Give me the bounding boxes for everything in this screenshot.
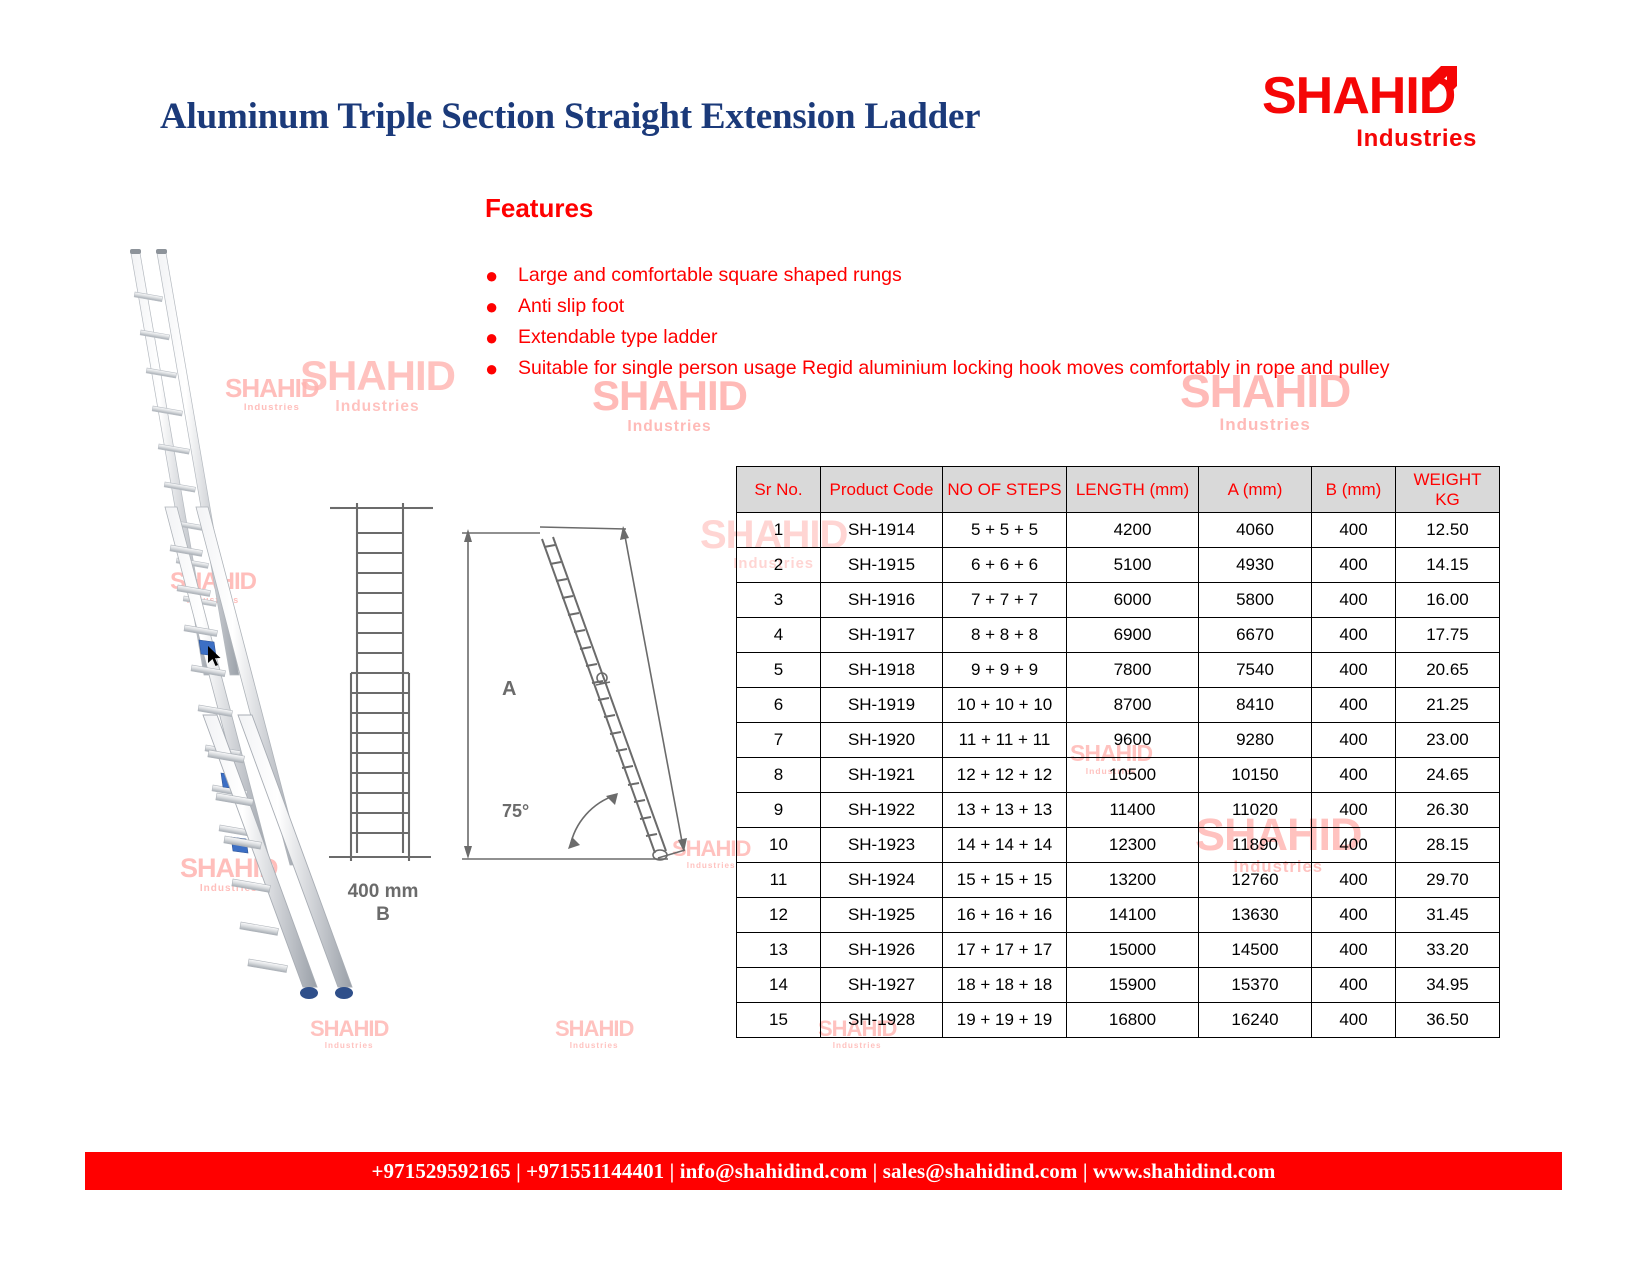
ladder-side-view-drawing: A 75° xyxy=(440,495,700,885)
column-header-sr-no: Sr No. xyxy=(737,467,821,513)
table-row: 4SH-19178 + 8 + 86900667040017.75 xyxy=(737,618,1500,653)
table-row: 9SH-192213 + 13 + 13114001102040026.30 xyxy=(737,793,1500,828)
column-header-b: B (mm) xyxy=(1312,467,1396,513)
dimension-a-label: A xyxy=(502,678,516,700)
feature-item: ● Extendable type ladder xyxy=(485,324,1485,351)
table-row: 8SH-192112 + 12 + 12105001015040024.65 xyxy=(737,758,1500,793)
table-row: 6SH-191910 + 10 + 108700841040021.25 xyxy=(737,688,1500,723)
bullet-icon: ● xyxy=(485,293,518,320)
table-row: 15SH-192819 + 19 + 19168001624040036.50 xyxy=(737,1003,1500,1038)
table-header-row: Sr No. Product Code NO OF STEPS LENGTH (… xyxy=(737,467,1500,513)
specification-table: Sr No. Product Code NO OF STEPS LENGTH (… xyxy=(736,466,1500,1038)
bullet-icon: ● xyxy=(485,355,518,382)
table-row: 12SH-192516 + 16 + 16141001363040031.45 xyxy=(737,898,1500,933)
table-row: 7SH-192011 + 11 + 119600928040023.00 xyxy=(737,723,1500,758)
table-row: 1SH-19145 + 5 + 54200406040012.50 xyxy=(737,513,1500,548)
column-header-length: LENGTH (mm) xyxy=(1067,467,1199,513)
table-row: 14SH-192718 + 18 + 18159001537040034.95 xyxy=(737,968,1500,1003)
table-row: 13SH-192617 + 17 + 17150001450040033.20 xyxy=(737,933,1500,968)
product-spec-sheet: Aluminum Triple Section Straight Extensi… xyxy=(0,0,1650,1275)
watermark: SHAHIDIndustries xyxy=(555,1018,633,1050)
ladder-front-view-drawing xyxy=(315,495,445,875)
watermark: SHAHIDIndustries xyxy=(310,1018,388,1050)
feature-item: ● Anti slip foot xyxy=(485,293,1485,320)
contact-footer-bar: +971529592165 | +971551144401 | info@sha… xyxy=(85,1152,1562,1190)
column-header-no-of-steps: NO OF STEPS xyxy=(943,467,1067,513)
bullet-icon: ● xyxy=(485,262,518,289)
feature-item: ● Large and comfortable square shaped ru… xyxy=(485,262,1485,289)
table-row: 3SH-19167 + 7 + 76000580040016.00 xyxy=(737,583,1500,618)
column-header-product-code: Product Code xyxy=(821,467,943,513)
contact-info: +971529592165 | +971551144401 | info@sha… xyxy=(371,1159,1275,1184)
bullet-icon: ● xyxy=(485,324,518,351)
table-row: 2SH-19156 + 6 + 65100493040014.15 xyxy=(737,548,1500,583)
table-row: 11SH-192415 + 15 + 15132001276040029.70 xyxy=(737,863,1500,898)
feature-item: ● Suitable for single person usage Regid… xyxy=(485,355,1485,382)
brand-logo: SHAHID Industries xyxy=(1262,70,1477,165)
dimension-b-label: 400 mm B xyxy=(318,880,448,926)
angle-label: 75° xyxy=(502,801,529,821)
mouse-cursor-icon xyxy=(207,645,223,669)
table-body: 1SH-19145 + 5 + 54200406040012.50 2SH-19… xyxy=(737,513,1500,1038)
table-row: 5SH-19189 + 9 + 97800754040020.65 xyxy=(737,653,1500,688)
table-row: 10SH-192314 + 14 + 14123001189040028.15 xyxy=(737,828,1500,863)
features-heading: Features xyxy=(485,193,593,224)
page-title: Aluminum Triple Section Straight Extensi… xyxy=(160,95,980,138)
features-list: ● Large and comfortable square shaped ru… xyxy=(485,262,1485,386)
column-header-weight: WEIGHT KG xyxy=(1396,467,1500,513)
column-header-a: A (mm) xyxy=(1199,467,1312,513)
brand-subtitle: Industries xyxy=(1262,125,1477,153)
arrow-flag-icon xyxy=(1417,60,1457,100)
